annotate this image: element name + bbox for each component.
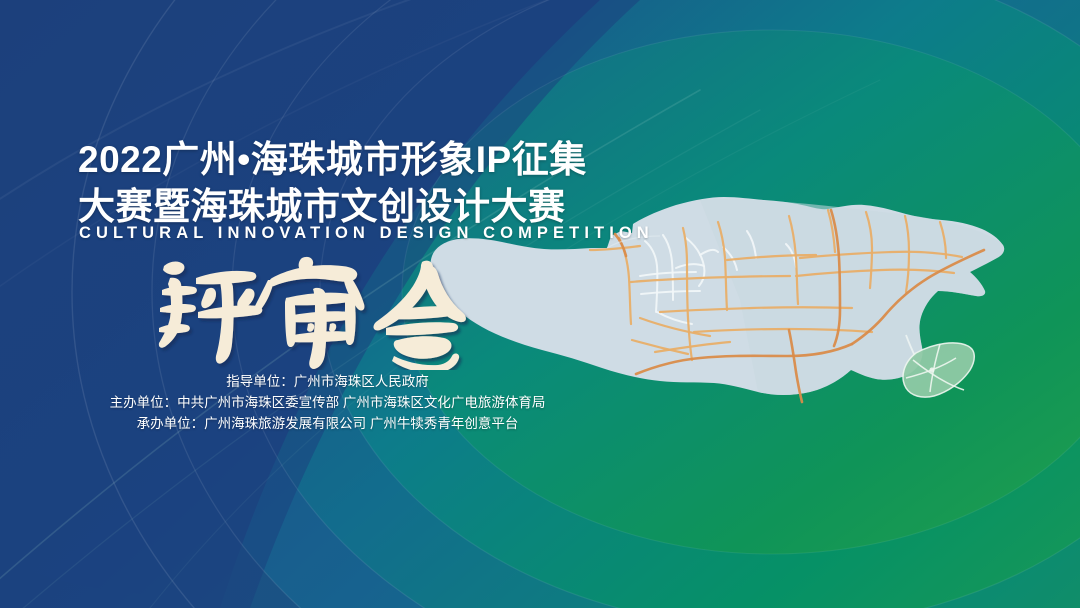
poster-canvas: 2022广州•海珠城市形象IP征集 大赛暨海珠城市文创设计大赛 CULTURAL… bbox=[0, 0, 1080, 608]
background-graphic bbox=[0, 0, 1080, 608]
